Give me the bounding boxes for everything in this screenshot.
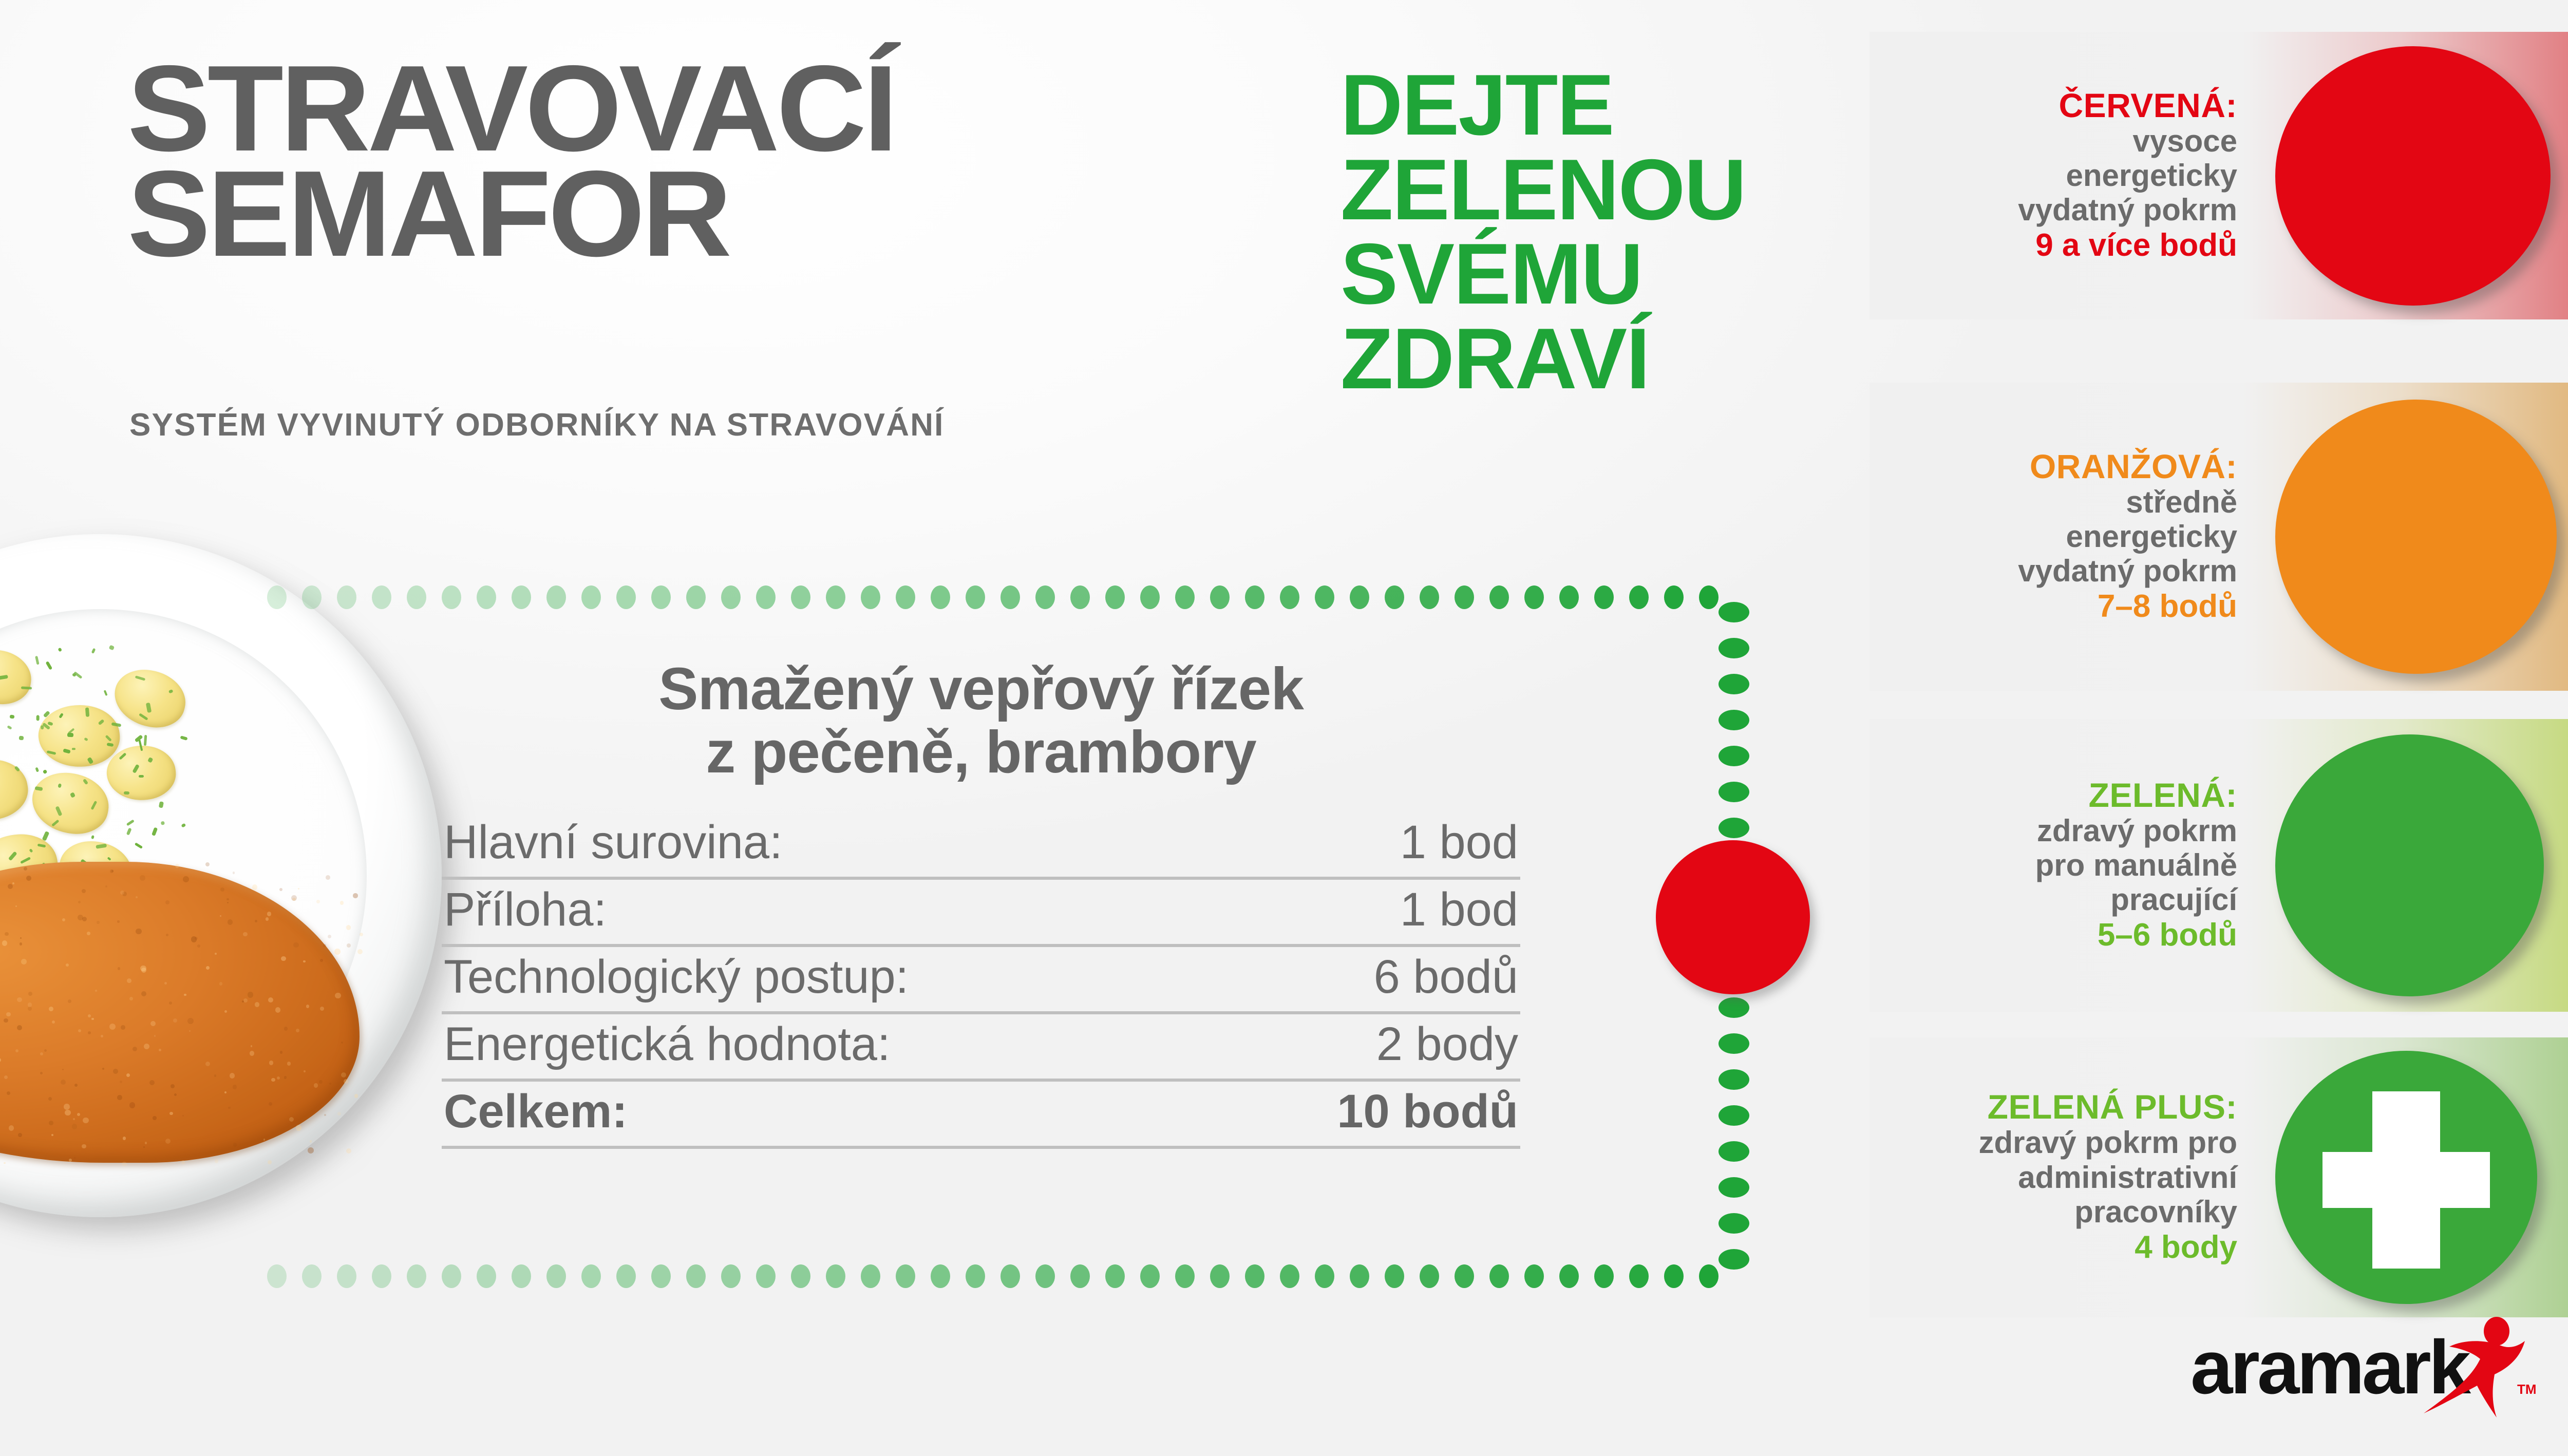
- crumb-speck: [145, 1142, 147, 1144]
- crumb-speck: [133, 1047, 137, 1051]
- crumb-speck: [187, 1018, 194, 1024]
- border-dot: [1455, 585, 1474, 609]
- border-dot: [302, 1264, 322, 1288]
- legend-card-desc-line: středně: [2126, 485, 2237, 519]
- crumb-speck: [12, 882, 14, 884]
- table-row: Celkem:10 bodů: [442, 1082, 1520, 1149]
- crumb-speck: [252, 884, 258, 890]
- border-dot: [1350, 1264, 1369, 1288]
- dotted-border-bottom: [267, 1264, 1741, 1288]
- border-dot: [442, 1264, 461, 1288]
- border-dot: [1629, 585, 1649, 609]
- crumb-speck: [140, 875, 145, 881]
- border-dot: [1664, 585, 1684, 609]
- border-dot: [1210, 585, 1230, 609]
- border-dot: [1385, 585, 1404, 609]
- crumb-speck: [87, 932, 90, 935]
- border-dot: [966, 585, 985, 609]
- crumb-speck: [126, 1073, 130, 1077]
- table-row: Hlavní surovina:1 bod: [442, 812, 1520, 880]
- legend-card-circle: [2275, 400, 2557, 674]
- crumb-speck: [77, 1113, 80, 1116]
- crumb-speck: [83, 1118, 89, 1124]
- crumb-speck: [78, 901, 81, 903]
- crumb-speck: [78, 915, 83, 920]
- crumb-speck: [183, 876, 189, 882]
- crumb-speck: [65, 1110, 71, 1116]
- border-dot: [1245, 1264, 1264, 1288]
- legend-card-1[interactable]: ČERVENÁ:vysoceenergetickyvydatný pokrm9 …: [1870, 32, 2568, 319]
- crumb-speck: [117, 1095, 122, 1100]
- crumb-speck: [17, 1025, 22, 1030]
- border-dot: [931, 1264, 950, 1288]
- crumb-speck: [173, 1018, 177, 1023]
- aramark-logo: aramark TM: [2191, 1320, 2550, 1428]
- crumb-speck: [7, 1091, 10, 1095]
- border-dot: [651, 1264, 671, 1288]
- crumb-speck: [4, 1075, 8, 1079]
- crumb-speck: [166, 934, 168, 936]
- crumb-speck: [164, 982, 167, 985]
- crumb-speck: [136, 929, 141, 934]
- slogan: DEJTE ZELENOU SVÉMU ZDRAVÍ: [1340, 63, 1746, 401]
- legend-card-title: ZELENÁ:: [2089, 777, 2237, 814]
- border-dot: [756, 585, 776, 609]
- crumb-speck: [251, 1045, 252, 1047]
- table-row-value: 1 bod: [1400, 816, 1518, 869]
- crumb-speck: [230, 1073, 235, 1079]
- legend-card-title: ZELENÁ PLUS:: [1988, 1089, 2237, 1125]
- crumb-speck: [243, 998, 248, 1003]
- border-dot: [1719, 602, 1749, 622]
- crumb-speck: [15, 905, 17, 907]
- chive-bit: [19, 736, 24, 741]
- crumb-speck: [26, 876, 31, 881]
- border-dot: [1559, 585, 1579, 609]
- border-dot: [337, 1264, 356, 1288]
- table-row-label: Hlavní surovina:: [444, 816, 783, 869]
- border-dot: [616, 585, 636, 609]
- crumb-speck: [153, 1116, 156, 1120]
- border-dot: [407, 1264, 426, 1288]
- crumb-speck: [51, 1134, 53, 1136]
- slogan-line-4: ZDRAVÍ: [1340, 316, 1746, 401]
- crumb-speck: [62, 918, 65, 921]
- crumb-speck: [143, 1146, 145, 1148]
- crumb-speck: [62, 1069, 64, 1070]
- border-dot: [826, 1264, 845, 1288]
- crumb-speck: [78, 1029, 81, 1032]
- crumb-speck: [175, 864, 180, 868]
- crumb-speck: [118, 967, 121, 970]
- border-dot: [1719, 818, 1749, 838]
- legend-card-2[interactable]: ORANŽOVÁ:středněenergetickyvydatný pokrm…: [1870, 383, 2568, 691]
- border-dot: [581, 585, 601, 609]
- border-dot: [861, 1264, 880, 1288]
- crumb-speck: [205, 862, 210, 866]
- crumb-speck: [206, 966, 210, 970]
- crumb-speck: [228, 919, 233, 924]
- chive-bit: [124, 791, 130, 795]
- crumb-speck: [255, 920, 257, 922]
- crumb-speck: [215, 1159, 218, 1163]
- crumb-speck: [243, 932, 248, 937]
- crumb-speck: [4, 1162, 5, 1164]
- border-dot: [1664, 1264, 1684, 1288]
- legend-card-text: ZELENÁ PLUS:zdravý pokrm proadministrati…: [1870, 1037, 2260, 1317]
- border-dot: [1719, 1033, 1749, 1054]
- chive-bit: [36, 715, 40, 721]
- crumb-speck: [28, 992, 32, 996]
- crumb-speck: [91, 1018, 94, 1020]
- crumb-speck: [74, 1157, 75, 1159]
- border-dot: [1280, 1264, 1299, 1288]
- border-dot: [512, 585, 531, 609]
- slogan-line-2: ZELENOU: [1340, 147, 1746, 232]
- crumb-speck: [174, 1093, 177, 1096]
- result-badge-red: [1656, 840, 1810, 994]
- crumb-speck: [150, 1021, 156, 1026]
- crumb-speck: [141, 991, 146, 996]
- crumb-speck: [226, 898, 229, 901]
- crumb-speck: [250, 1051, 255, 1056]
- border-dot: [1719, 746, 1749, 766]
- border-dot: [1315, 585, 1334, 609]
- crumb-speck: [144, 1044, 149, 1049]
- border-dot: [1629, 1264, 1649, 1288]
- border-dot: [1719, 1213, 1749, 1234]
- crumb-speck: [197, 944, 200, 948]
- border-dot: [1140, 585, 1160, 609]
- crumb-speck: [248, 992, 253, 997]
- table-row-value: 2 body: [1376, 1017, 1518, 1071]
- border-dot: [861, 585, 880, 609]
- crumb-speck: [97, 921, 99, 923]
- border-dot: [1489, 1264, 1509, 1288]
- border-dot: [512, 1264, 531, 1288]
- crumb-speck: [169, 1112, 173, 1115]
- crumb-speck: [17, 997, 22, 1002]
- crumb-speck: [101, 1035, 103, 1037]
- crumb-speck: [224, 1010, 228, 1013]
- border-dot: [931, 585, 950, 609]
- table-row: Technologický postup:6 bodů: [442, 947, 1520, 1014]
- border-dot: [477, 585, 496, 609]
- chive-bit: [139, 774, 144, 777]
- crumb-speck: [64, 1104, 70, 1110]
- border-dot: [302, 585, 322, 609]
- dotted-border-top: [267, 585, 1741, 609]
- crumb-speck: [18, 1133, 22, 1137]
- crumb-speck: [40, 1052, 43, 1055]
- crumb-speck: [171, 1084, 175, 1088]
- crumb-speck: [154, 1035, 156, 1036]
- crumb-speck: [127, 978, 131, 983]
- page-subtitle: SYSTÉM VYVINUTÝ ODBORNÍKY NA STRAVOVÁNÍ: [129, 407, 945, 443]
- border-dot: [1719, 638, 1749, 658]
- table-row-value: 10 bodů: [1337, 1085, 1518, 1139]
- border-dot: [1175, 1264, 1195, 1288]
- legend-card-4[interactable]: ZELENÁ PLUS:zdravý pokrm proadministrati…: [1870, 1037, 2568, 1317]
- border-dot: [1385, 1264, 1404, 1288]
- legend-card-text: ZELENÁ:zdravý pokrmpro manuálněpracující…: [1870, 719, 2260, 1012]
- legend-card-desc-line: pracovníky: [2074, 1195, 2237, 1229]
- legend-card-desc-line: pro manuálně: [2035, 848, 2237, 882]
- crumb-speck: [117, 920, 119, 922]
- crumb-speck: [184, 994, 186, 996]
- crumb-speck: [82, 1144, 86, 1148]
- border-dot: [1280, 585, 1299, 609]
- crumb-speck: [74, 1084, 78, 1087]
- crumb-speck: [205, 1062, 210, 1066]
- crumb-speck: [165, 900, 169, 904]
- crumb-speck: [66, 963, 69, 967]
- crumb-speck: [88, 1014, 91, 1017]
- crumb-speck: [169, 1001, 172, 1005]
- crumb-speck: [72, 1124, 77, 1129]
- crumb-speck: [0, 1058, 1, 1062]
- border-dot: [1070, 1264, 1090, 1288]
- crumb-speck: [140, 966, 146, 971]
- legend-card-text: ORANŽOVÁ:středněenergetickyvydatný pokrm…: [1870, 383, 2260, 691]
- crumb-speck: [123, 1137, 126, 1140]
- crumb-speck: [149, 1080, 155, 1085]
- border-dot: [1719, 1069, 1749, 1090]
- legend-card-circle: [2275, 734, 2544, 996]
- border-dot: [651, 585, 671, 609]
- meal-card: Smažený vepřový řízek z pečeně, brambory…: [267, 585, 1741, 1289]
- border-dot: [1524, 1264, 1544, 1288]
- meal-name-line-2: z pečeně, brambory: [442, 721, 1520, 784]
- crumb-speck: [111, 870, 114, 872]
- border-dot: [1350, 585, 1369, 609]
- legend-card-3[interactable]: ZELENÁ:zdravý pokrmpro manuálněpracující…: [1870, 719, 2568, 1012]
- border-dot: [686, 1264, 706, 1288]
- crumb-speck: [220, 887, 224, 892]
- border-dot: [1105, 585, 1125, 609]
- legend-panel: ČERVENÁ:vysoceenergetickyvydatný pokrm9 …: [1870, 0, 2568, 1456]
- border-dot: [1719, 997, 1749, 1018]
- crumb-speck: [159, 1049, 161, 1051]
- aramark-star-icon: [2420, 1317, 2527, 1420]
- border-dot: [372, 1264, 391, 1288]
- border-dot: [721, 585, 741, 609]
- crumb-speck: [233, 1143, 237, 1146]
- legend-card-points: 7–8 bodů: [2098, 588, 2237, 625]
- crumb-speck: [6, 1012, 11, 1017]
- border-dot: [1315, 1264, 1334, 1288]
- crumb-speck: [4, 1018, 8, 1023]
- table-row-label: Technologický postup:: [444, 950, 909, 1004]
- table-row-value: 6 bodů: [1374, 950, 1518, 1004]
- crumb-speck: [21, 959, 27, 965]
- legend-card-desc-line: pracující: [2110, 882, 2237, 917]
- legend-card-desc-line: vydatný pokrm: [2018, 554, 2237, 588]
- border-dot: [1719, 1249, 1749, 1270]
- crumb-speck: [214, 1074, 216, 1076]
- legend-card-title: ORANŽOVÁ:: [2030, 448, 2237, 485]
- page-title-line-2: SEMAFOR: [127, 162, 895, 267]
- border-dot: [791, 1264, 810, 1288]
- crumb-speck: [73, 1118, 75, 1120]
- crumb-speck: [136, 896, 138, 898]
- border-dot: [1559, 1264, 1579, 1288]
- crumb-speck: [105, 885, 107, 887]
- border-dot: [407, 585, 426, 609]
- border-dot: [1524, 585, 1544, 609]
- border-dot: [1719, 782, 1749, 802]
- crumb-speck: [88, 1031, 91, 1034]
- table-row-label: Příloha:: [444, 883, 607, 937]
- crumb-speck: [15, 1049, 18, 1052]
- crumb-speck: [227, 902, 229, 903]
- border-dot: [442, 585, 461, 609]
- crumb-speck: [120, 1081, 122, 1083]
- legend-card-circle: [2275, 46, 2551, 306]
- plus-icon-vertical: [2372, 1091, 2441, 1269]
- crumb-speck: [61, 1080, 66, 1085]
- border-dot: [267, 1264, 287, 1288]
- border-dot: [1035, 585, 1055, 609]
- border-dot: [1105, 1264, 1125, 1288]
- crumb-speck: [8, 884, 13, 889]
- legend-card-desc-line: energeticky: [2066, 158, 2237, 193]
- border-dot: [966, 1264, 985, 1288]
- legend-card-desc-line: zdravý pokrm: [2037, 814, 2237, 848]
- crumb-speck: [224, 1091, 226, 1093]
- border-dot: [1070, 585, 1090, 609]
- crumb-speck: [113, 1069, 118, 1074]
- crumb-speck: [220, 915, 221, 917]
- border-dot: [1699, 585, 1719, 609]
- trademark-symbol: TM: [2517, 1382, 2537, 1397]
- border-dot: [337, 585, 356, 609]
- border-dot: [1719, 710, 1749, 730]
- crumb-speck: [82, 889, 86, 894]
- crumb-speck: [242, 1000, 244, 1003]
- table-row: Energetická hodnota:2 body: [442, 1014, 1520, 1082]
- border-dot: [546, 1264, 566, 1288]
- legend-card-circle-plus-icon: [2275, 1051, 2537, 1303]
- border-dot: [1140, 1264, 1160, 1288]
- table-row-label: Energetická hodnota:: [444, 1017, 891, 1071]
- crumb-speck: [49, 1121, 53, 1125]
- crumb-speck: [181, 1160, 185, 1164]
- crumb-speck: [215, 953, 217, 955]
- crumb-speck: [9, 1125, 14, 1131]
- legend-card-points: 4 body: [2135, 1229, 2237, 1266]
- crumb-speck: [95, 990, 97, 992]
- border-dot: [721, 1264, 741, 1288]
- chive-bit: [9, 714, 14, 718]
- border-dot: [477, 1264, 496, 1288]
- crumb-speck: [122, 1162, 126, 1166]
- meal-points-table: Hlavní surovina:1 bodPříloha:1 bodTechno…: [442, 812, 1520, 1149]
- legend-card-desc-line: energeticky: [2066, 519, 2237, 554]
- crumb-speck: [129, 1102, 136, 1108]
- meal-card-body: Smažený vepřový řízek z pečeně, brambory…: [442, 657, 1520, 1149]
- page-title: STRAVOVACÍ SEMAFOR: [127, 56, 880, 267]
- crumb-speck: [40, 1072, 43, 1074]
- crumb-speck: [233, 1085, 237, 1089]
- crumb-speck: [20, 942, 23, 946]
- legend-card-points: 9 a více bodů: [2035, 227, 2237, 264]
- legend-card-desc-line: administrativní: [2018, 1160, 2237, 1195]
- crumb-speck: [182, 1115, 184, 1117]
- border-dot: [896, 585, 915, 609]
- legend-card-title: ČERVENÁ:: [2059, 87, 2237, 124]
- crumb-speck: [233, 872, 235, 874]
- border-dot: [1000, 585, 1020, 609]
- meal-name-line-1: Smažený vepřový řízek: [442, 657, 1520, 721]
- border-dot: [1489, 585, 1509, 609]
- legend-card-desc-line: vysoce: [2133, 124, 2238, 158]
- crumb-speck: [102, 1068, 104, 1070]
- crumb-speck: [52, 1020, 55, 1024]
- crumb-speck: [219, 982, 222, 985]
- border-dot: [1210, 1264, 1230, 1288]
- border-dot: [546, 585, 566, 609]
- border-dot: [372, 585, 391, 609]
- border-dot: [896, 1264, 915, 1288]
- crumb-speck: [44, 1049, 47, 1052]
- border-dot: [1035, 1264, 1055, 1288]
- border-dot: [686, 585, 706, 609]
- legend-card-desc-line: vydatný pokrm: [2018, 193, 2237, 227]
- crumb-speck: [165, 1139, 171, 1144]
- crumb-speck: [189, 1030, 191, 1032]
- border-dot: [1420, 585, 1439, 609]
- legend-card-desc-line: zdravý pokrm pro: [1979, 1125, 2237, 1160]
- border-dot: [1420, 1264, 1439, 1288]
- crumb-speck: [109, 1024, 116, 1030]
- crumb-speck: [20, 937, 22, 939]
- border-dot: [1455, 1264, 1474, 1288]
- poster-canvas: STRAVOVACÍ SEMAFOR SYSTÉM VYVINUTÝ ODBOR…: [0, 0, 2568, 1456]
- border-dot: [1719, 1105, 1749, 1126]
- crumb-speck: [28, 1007, 32, 1011]
- slogan-line-1: DEJTE: [1340, 63, 1746, 147]
- crumb-speck: [121, 1025, 125, 1030]
- legend-card-text: ČERVENÁ:vysoceenergetickyvydatný pokrm9 …: [1870, 32, 2260, 319]
- crumb-speck: [191, 936, 197, 942]
- meal-name: Smažený vepřový řízek z pečeně, brambory: [442, 657, 1520, 784]
- border-dot: [756, 1264, 776, 1288]
- border-dot: [1719, 1177, 1749, 1198]
- crumb-speck: [69, 1159, 72, 1162]
- border-dot: [1719, 1141, 1749, 1162]
- crumb-speck: [24, 867, 27, 871]
- table-row-label: Celkem:: [444, 1085, 628, 1139]
- crumb-speck: [263, 1139, 265, 1140]
- legend-card-points: 5–6 bodů: [2098, 917, 2237, 954]
- crumb-speck: [2, 940, 8, 946]
- crumb-speck: [255, 1002, 260, 1007]
- border-dot: [1245, 585, 1264, 609]
- crumb-speck: [228, 1107, 230, 1109]
- crumb-speck: [68, 999, 71, 1003]
- border-dot: [826, 585, 845, 609]
- border-dot: [791, 585, 810, 609]
- crumb-speck: [5, 932, 9, 936]
- crumb-speck: [48, 1097, 52, 1101]
- table-row: Příloha:1 bod: [442, 880, 1520, 947]
- border-dot: [1719, 674, 1749, 694]
- header: STRAVOVACÍ SEMAFOR SYSTÉM VYVINUTÝ ODBOR…: [0, 0, 1870, 493]
- border-dot: [1699, 1264, 1719, 1288]
- border-dot: [1175, 585, 1195, 609]
- border-dot: [1000, 1264, 1020, 1288]
